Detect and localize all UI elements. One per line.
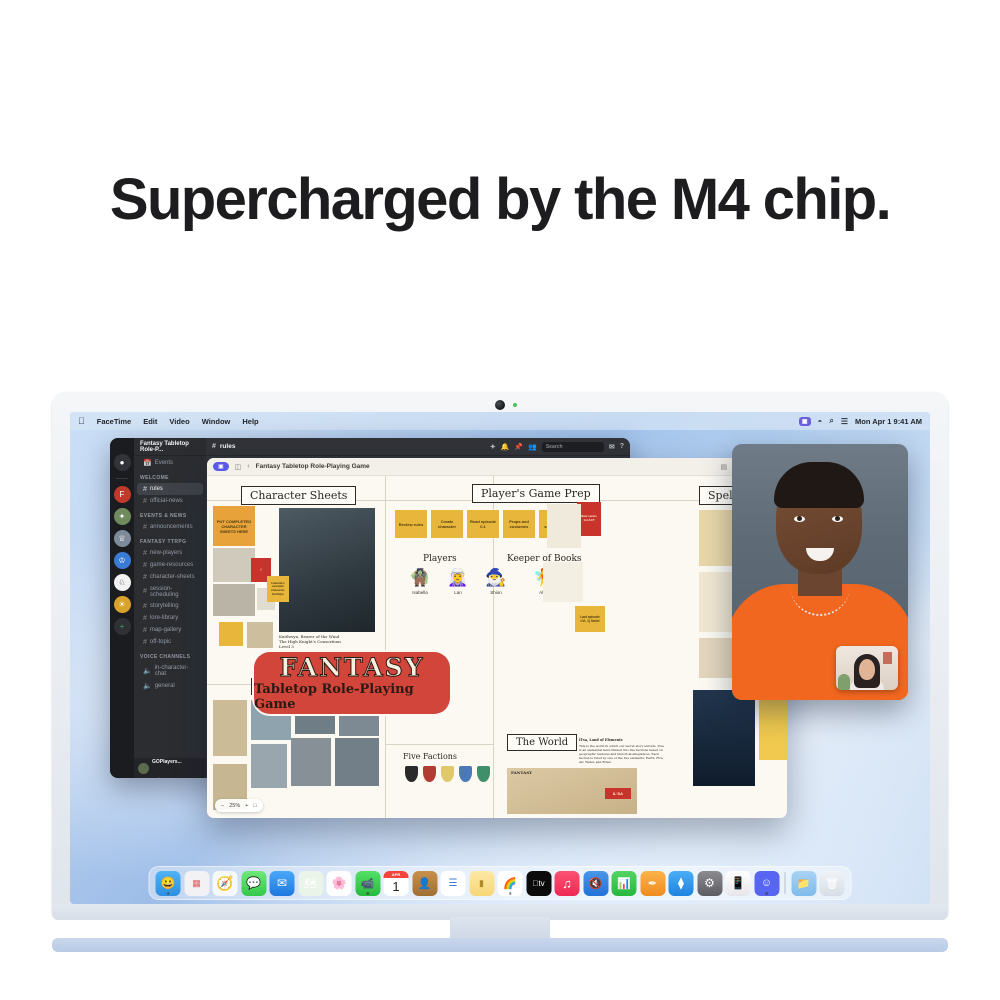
server-icon-green[interactable]: ✦ <box>114 508 131 525</box>
board-section-the-world[interactable]: The World <box>507 734 577 751</box>
board-section-players-game-prep[interactable]: Player's Game Prep <box>472 484 600 503</box>
dock-divider <box>785 872 786 894</box>
sticky-note-yellow-small[interactable] <box>219 622 243 646</box>
discord-current-channel: rules <box>220 443 236 450</box>
faction-shield-1[interactable] <box>405 766 418 782</box>
dock-icon-mail[interactable]: ✉ <box>270 871 295 896</box>
board-caption-character: Kaithwyn, Bearer of the Wind The High Kn… <box>279 634 375 650</box>
discord-server-title[interactable]: Fantasy Tabletop Role-P... <box>134 438 206 456</box>
dock-icon-finder[interactable]: 😀 <box>156 871 181 896</box>
menu-item-video[interactable]: Video <box>169 417 189 426</box>
self-view-wall-art <box>883 652 892 664</box>
screen-share-status-icon[interactable]: ▣ <box>799 417 811 426</box>
sidebar-channel-lore-library[interactable]: #lore-library <box>137 612 203 624</box>
dock-icon-discord[interactable]: ☺ <box>754 871 779 896</box>
faction-shield-2[interactable] <box>423 766 436 782</box>
sticky-note-read-episode[interactable]: Read episode 0.1 <box>467 510 499 538</box>
sidebar-channel-session-scheduling[interactable]: #session-scheduling <box>137 583 203 600</box>
freeform-icon: 🌈 <box>503 877 517 890</box>
sidebar-channel-new-players[interactable]: #new-players <box>137 547 203 559</box>
sidebar-channel-rules[interactable]: # rules <box>137 483 203 495</box>
dock-icon-facetime[interactable]: 📹 <box>355 871 380 896</box>
server-icon-white[interactable]: ♘ <box>114 574 131 591</box>
menu-item-facetime[interactable]: FaceTime <box>97 417 131 426</box>
pin-icon[interactable]: 📌 <box>514 443 523 451</box>
board-image-reference[interactable] <box>213 700 247 756</box>
discord-icon: ☺ <box>761 877 772 889</box>
channel-label: new-players <box>150 550 182 556</box>
dock-icon-downloads-folder[interactable]: 📁 <box>791 871 816 896</box>
sidebar-channel-storytelling[interactable]: #storytelling <box>137 600 203 612</box>
menu-bar-status-area[interactable]: ▣ ◓ ⌕ ☰ Mon Apr 1 9:41 AM <box>799 416 922 426</box>
board-label-players: Players <box>423 554 457 564</box>
dock-icon-safari[interactable]: 🧭 <box>213 871 238 896</box>
contacts-icon: 👤 <box>418 877 432 890</box>
pages-icon: ✒ <box>648 877 657 890</box>
sticky-note-props-costumes[interactable]: Props and costumes <box>503 510 535 538</box>
board-image-character-portrait[interactable] <box>279 508 375 632</box>
finder-icon: 😀 <box>161 876 176 890</box>
speaker-icon: 🔈 <box>143 667 152 675</box>
discord-server-rail[interactable]: ● F ✦ ♕ ♔ ♘ ☀ + <box>110 438 134 778</box>
facetime-self-view[interactable] <box>836 646 898 690</box>
dock-icon-calendar[interactable]: APR1 <box>384 871 409 896</box>
calendar-icon: 📅 <box>143 459 152 467</box>
zoom-in-button[interactable]: + <box>245 803 248 809</box>
dock-icon-maps[interactable]: 🗺 <box>298 871 323 896</box>
map-badge[interactable]: IL'SA <box>605 788 631 799</box>
sidebar-voice-general[interactable]: 🔈general <box>137 679 203 692</box>
hash-icon: # <box>143 486 147 493</box>
menu-item-window[interactable]: Window <box>202 417 231 426</box>
caller-pupil-right <box>835 516 840 521</box>
folder-icon: 📁 <box>797 877 811 890</box>
hash-icon: # <box>143 639 147 646</box>
iphone-icon: 📱 <box>731 876 746 890</box>
running-indicator <box>167 892 170 895</box>
freeform-canvas[interactable]: Character Sheets Player's Game Prep Spel… <box>207 476 787 818</box>
dock-icon-numbers[interactable]: 📊 <box>612 871 637 896</box>
channel-label: in-character-chat <box>155 665 197 677</box>
sticky-note-character-example[interactable]: Isabella's example character, Kaithlyn <box>267 576 289 602</box>
dock-icon-launchpad[interactable]: ▦ <box>184 871 209 896</box>
apple-tv-icon: tv <box>532 879 544 888</box>
launchpad-icon: ▦ <box>192 878 201 889</box>
threads-icon[interactable]: ✦ <box>490 443 496 451</box>
board-label-five-factions: Five Factions <box>403 752 457 761</box>
channel-label: official-news <box>150 498 183 504</box>
safari-icon: 🧭 <box>216 875 233 892</box>
channel-label: game-resources <box>150 562 193 568</box>
calendar-day-label: 1 <box>384 877 409 896</box>
channel-label: character-sheets <box>150 574 195 580</box>
sticky-note-review-rules[interactable]: Review rules <box>395 510 427 538</box>
dock-icon-pages[interactable]: ✒ <box>640 871 665 896</box>
keynote-icon: 🔇 <box>589 877 603 890</box>
numbers-icon: 📊 <box>617 877 631 890</box>
discord-user-panel[interactable]: GOPlayers... Online <box>134 758 206 778</box>
search-icon[interactable]: ⌕ <box>829 416 833 426</box>
control-center-icon[interactable]: ☰ <box>841 417 848 426</box>
player-name-lan: Lan <box>443 590 473 595</box>
inbox-icon[interactable]: ✉ <box>609 443 615 451</box>
board-image-reference[interactable] <box>291 738 331 786</box>
discord-search-input[interactable]: Search <box>542 442 604 452</box>
hash-icon: # <box>143 603 147 610</box>
messages-icon: 💬 <box>246 876 261 890</box>
trash-icon: 🗑 <box>825 877 839 890</box>
zoom-level-label: 25% <box>229 803 240 809</box>
running-indicator <box>509 892 512 895</box>
board-image-reference[interactable] <box>335 738 379 786</box>
discord-header-actions[interactable]: ✦ 🔔 📌 👥 Search ✉ ? <box>490 442 624 452</box>
dock-icon-photos[interactable]: 🌸 <box>327 871 352 896</box>
reminders-icon: ☰ <box>449 878 458 889</box>
faction-shield-5[interactable] <box>477 766 490 782</box>
menu-bar-clock[interactable]: Mon Apr 1 9:41 AM <box>855 417 922 426</box>
page-root: Supercharged by the M4 chip.  FaceTime … <box>0 0 1000 1000</box>
discord-user-info: GOPlayers... Online <box>152 750 182 778</box>
channel-label: off-topic <box>150 639 171 645</box>
menu-item-help[interactable]: Help <box>242 417 258 426</box>
self-view-face <box>859 659 875 680</box>
canvas-divider <box>385 744 493 745</box>
world-text-body: This is the world in which our secret st… <box>579 744 665 764</box>
player-avatar-shion[interactable]: 🧙‍♂️ <box>481 568 511 588</box>
sidebar-channel-official-news[interactable]: # official-news <box>137 495 203 507</box>
zoom-out-button[interactable]: − <box>221 803 224 809</box>
dock-icon-trash[interactable]: 🗑 <box>820 871 845 896</box>
sidebar-channel-announcements[interactable]: # announcements <box>137 521 203 533</box>
discord-channel-list[interactable]: Fantasy Tabletop Role-P... 📅 Events WELC… <box>134 438 206 778</box>
music-icon: ♫ <box>562 876 572 891</box>
board-image-yellow-card[interactable] <box>759 690 787 760</box>
sidebar-channel-map-gallery[interactable]: #map-gallery <box>137 624 203 636</box>
map-title: FANTASY <box>511 770 532 775</box>
hash-icon: # <box>143 550 147 557</box>
wifi-icon[interactable]: ◓ <box>818 417 823 426</box>
rail-divider <box>116 478 128 479</box>
channel-label: map-gallery <box>150 627 181 633</box>
server-icon-fantasy[interactable]: F <box>114 486 131 503</box>
discord-home-icon[interactable]: ● <box>114 454 131 471</box>
sidebar-icon[interactable]: ◫ <box>235 463 242 471</box>
bell-icon[interactable]: 🔔 <box>501 443 510 451</box>
canvas-divider <box>385 476 386 818</box>
add-server-button[interactable]: + <box>114 618 131 635</box>
board-image-doc[interactable] <box>547 504 581 548</box>
board-section-character-sheets[interactable]: Character Sheets <box>241 486 356 505</box>
imac-device:  FaceTime Edit Video Window Help ▣ ◓ ⌕ … <box>52 392 948 952</box>
banner-title-line1: FANTASY <box>279 655 424 680</box>
channel-label: lore-library <box>150 615 178 621</box>
dock-icon-notes[interactable]: ▮ <box>469 871 494 896</box>
speaker-icon: 🔈 <box>143 682 152 690</box>
channel-label: announcements <box>150 524 193 530</box>
board-image-sheet-thumb[interactable] <box>213 584 255 616</box>
channel-label: general <box>155 683 175 689</box>
sidebar-voice-in-character-chat[interactable]: 🔈in-character-chat <box>137 662 203 679</box>
hash-icon: # <box>212 443 216 450</box>
player-avatar-lan[interactable]: 🧝‍♀️ <box>443 568 473 588</box>
server-icon-blue[interactable]: ♔ <box>114 552 131 569</box>
dock-icon-contacts[interactable]: 👤 <box>412 871 437 896</box>
sticky-note-last-episode[interactable]: Last episode LVL 1) Sariel <box>575 606 605 632</box>
gear-icon: ⚙ <box>704 876 715 890</box>
board-image-reference[interactable] <box>251 744 287 788</box>
caller-hair <box>774 462 864 508</box>
dock-icon-apple-tv[interactable]: tv <box>526 871 551 896</box>
faction-shield-3[interactable] <box>441 766 454 782</box>
back-icon[interactable]: ‹ <box>247 463 249 470</box>
hash-icon: # <box>143 627 147 634</box>
faction-shield-4[interactable] <box>459 766 472 782</box>
facetime-participant-tile[interactable] <box>732 444 908 700</box>
hash-icon: # <box>143 615 147 622</box>
server-icon-gold[interactable]: ☀ <box>114 596 131 613</box>
channel-section-events-news[interactable]: EVENTS & NEWS <box>134 507 206 521</box>
macos-dock[interactable]: 😀 ▦ 🧭 💬 ✉ 🗺 🌸 📹 APR1 👤 ☰ ▮ 🌈 tv ♫ 🔇 📊 ✒… <box>149 866 852 900</box>
menu-item-edit[interactable]: Edit <box>143 417 157 426</box>
camera-indicator-led <box>513 403 517 407</box>
sticky-note-put-sheets[interactable]: PUT COMPLETED CHARACTER SHEETS HERE <box>213 506 255 546</box>
player-name-shion: Shion <box>481 590 511 595</box>
channel-section-welcome[interactable]: WELCOME <box>134 469 206 483</box>
apple-menu-icon[interactable]:  <box>78 417 85 426</box>
discord-events-label: Events <box>155 460 173 466</box>
screen-share-badge-icon[interactable]: ▣ <box>213 462 229 471</box>
world-text-title: Il'sa, Land of Elements <box>579 738 665 742</box>
hash-icon: # <box>143 588 147 595</box>
app-store-icon: ⧫ <box>678 876 684 890</box>
board-title-banner[interactable]: FANTASY Tabletop Role-Playing Game <box>254 652 450 714</box>
hash-icon: # <box>143 562 147 569</box>
channel-section-voice[interactable]: VOICE CHANNELS <box>134 648 206 662</box>
player-avatar-isabella[interactable]: 🧌 <box>405 568 435 588</box>
server-icon-grey[interactable]: ♕ <box>114 530 131 547</box>
freeform-window[interactable]: ▣ ◫ ‹ Fantasy Tabletop Role-Playing Game… <box>207 458 787 818</box>
board-image-poster[interactable] <box>693 690 755 786</box>
freeform-board-title: Fantasy Tabletop Role-Playing Game <box>256 463 370 470</box>
self-view-plant <box>838 674 850 690</box>
board-image-note[interactable] <box>543 562 583 602</box>
dock-icon-system-settings[interactable]: ⚙ <box>697 871 722 896</box>
discord-events-item[interactable]: 📅 Events <box>137 456 203 469</box>
dock-icon-iphone-mirroring[interactable]: 📱 <box>726 871 751 896</box>
discord-user-status: Online <box>152 777 165 778</box>
dock-icon-messages[interactable]: 💬 <box>241 871 266 896</box>
dock-icon-app-store[interactable]: ⧫ <box>669 871 694 896</box>
notes-icon: ▮ <box>479 878 484 889</box>
channel-section-fantasy-ttrpg[interactable]: FANTASY TTRPG <box>134 533 206 547</box>
macos-menu-bar[interactable]:  FaceTime Edit Video Window Help ▣ ◓ ⌕ … <box>70 412 930 430</box>
dock-icon-keynote[interactable]: 🔇 <box>583 871 608 896</box>
freeform-toolbar[interactable]: ▣ ◫ ‹ Fantasy Tabletop Role-Playing Game… <box>207 458 787 476</box>
caller-pupil-left <box>797 516 802 521</box>
members-icon[interactable]: 👥 <box>528 443 537 451</box>
board-image-map-thumb[interactable] <box>247 622 273 648</box>
discord-channel-header: # rules ✦ 🔔 📌 👥 Search ✉ ? <box>206 438 630 456</box>
maps-icon: 🗺 <box>304 877 318 890</box>
help-icon[interactable]: ? <box>620 443 624 450</box>
discord-username: GOPlayers... <box>152 759 182 765</box>
sidebar-channel-off-topic[interactable]: #off-topic <box>137 636 203 648</box>
channel-label: storytelling <box>150 603 179 609</box>
webcam-icon <box>495 400 505 410</box>
sidebar-channel-character-sheets[interactable]: #character-sheets <box>137 571 203 583</box>
board-image-sheet-thumb[interactable] <box>213 548 255 582</box>
running-indicator <box>765 892 768 895</box>
sticky-note-create-character[interactable]: Create character <box>431 510 463 538</box>
hash-icon: # <box>143 574 147 581</box>
avatar <box>138 763 149 774</box>
sidebar-channel-game-resources[interactable]: #game-resources <box>137 559 203 571</box>
mail-icon: ✉ <box>277 876 287 890</box>
fit-to-screen-button[interactable]: □ <box>253 803 256 809</box>
photos-icon: 🌸 <box>332 876 347 890</box>
running-indicator <box>366 892 369 895</box>
dock-icon-music[interactable]: ♫ <box>555 871 580 896</box>
dock-icon-reminders[interactable]: ☰ <box>441 871 466 896</box>
dock-icon-freeform[interactable]: 🌈 <box>498 871 523 896</box>
canvas-zoom-control[interactable]: − 25% + □ <box>215 799 263 812</box>
hash-icon: # <box>143 524 147 531</box>
facetime-icon: 📹 <box>361 877 375 890</box>
player-name-isabella: Isabella <box>405 590 435 595</box>
imac-base <box>52 938 948 952</box>
channel-label: rules <box>150 486 163 492</box>
banner-title-line2: Tabletop Role-Playing Game <box>254 682 450 712</box>
hash-icon: # <box>143 498 147 505</box>
channel-label: session-scheduling <box>150 586 197 598</box>
insert-icon[interactable]: ▤ <box>721 463 728 471</box>
display-screen:  FaceTime Edit Video Window Help ▣ ◓ ⌕ … <box>70 412 930 904</box>
page-headline: Supercharged by the M4 chip. <box>0 166 1000 233</box>
